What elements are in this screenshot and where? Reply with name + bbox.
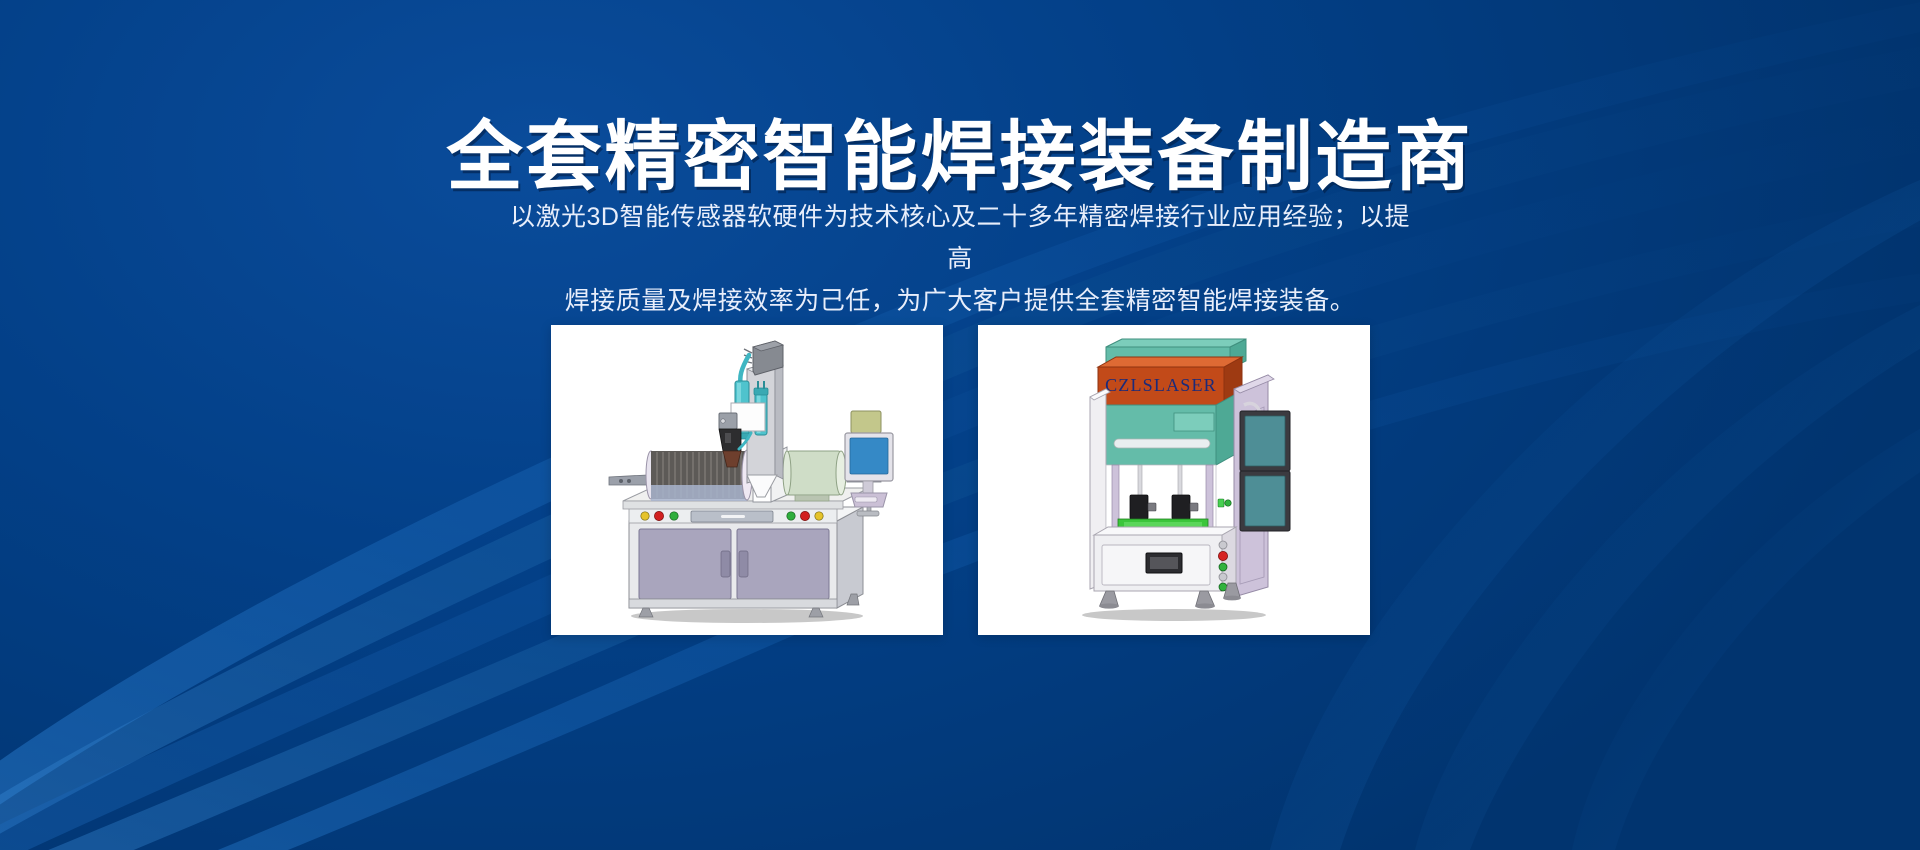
hero-banner: 全套精密智能焊接装备制造商 以激光3D智能传感器软硬件为技术核心及二十多年精密焊… (0, 0, 1920, 850)
product-card-1[interactable] (551, 325, 943, 635)
page-title: 全套精密智能焊接装备制造商 (0, 113, 1920, 203)
product-image-gallery: CZLSLASER (0, 325, 1920, 635)
hero-subtitle-line-2: 焊接质量及焊接效率为己任，为广大客户提供全套精密智能焊接装备。 (500, 280, 1420, 322)
welding-machine-illustration-1 (551, 325, 943, 635)
welding-machine-illustration-2: CZLSLASER (978, 325, 1370, 635)
product-card-2[interactable]: CZLSLASER (978, 325, 1370, 635)
hero-subtitle-line-1: 以激光3D智能传感器软硬件为技术核心及二十多年精密焊接行业应用经验；以提高 (500, 196, 1420, 280)
machine-brand-label: CZLSLASER (1105, 375, 1217, 395)
hero-subtitle: 以激光3D智能传感器软硬件为技术核心及二十多年精密焊接行业应用经验；以提高 焊接… (500, 196, 1420, 322)
